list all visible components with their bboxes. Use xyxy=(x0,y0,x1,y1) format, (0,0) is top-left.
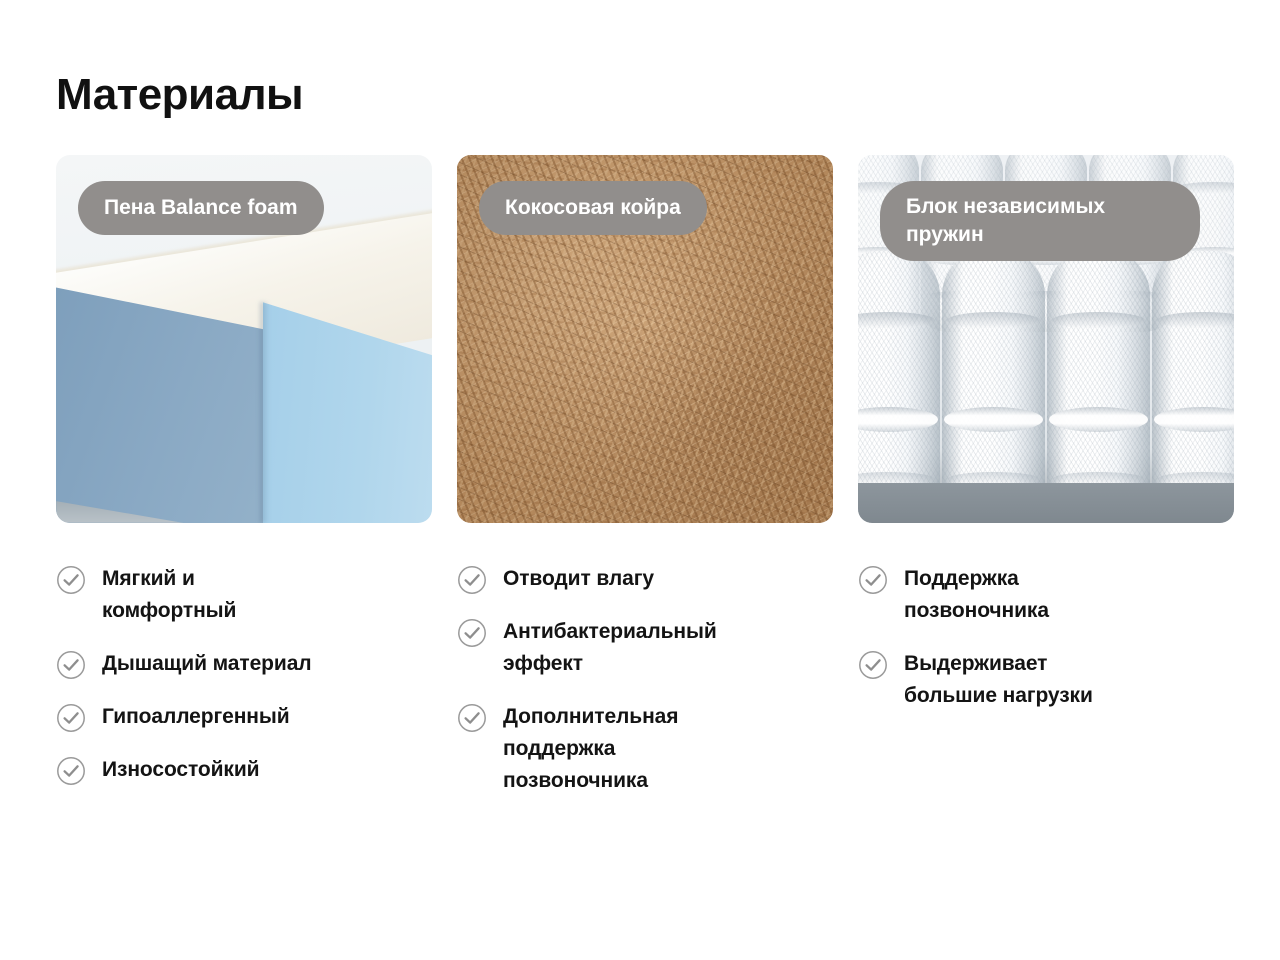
feature-item: Антибактериальный эффект xyxy=(457,615,833,680)
feature-label: Дышащий материал xyxy=(102,647,312,680)
feature-label: Дополнительная поддержка позвоночника xyxy=(503,700,678,797)
check-circle-icon xyxy=(858,650,888,680)
feature-item: Отводит влагу xyxy=(457,562,833,595)
feature-label: Мягкий и комфортный xyxy=(102,562,236,627)
check-circle-icon xyxy=(457,618,487,648)
material-card-springs[interactable]: Блок независимых пружин xyxy=(858,155,1234,523)
feature-label: Поддержка позвоночника xyxy=(904,562,1049,627)
feature-label: Износостойкий xyxy=(102,753,259,786)
feature-item: Гипоаллергенный xyxy=(56,700,432,733)
feature-label: Антибактериальный эффект xyxy=(503,615,717,680)
feature-label: Гипоаллергенный xyxy=(102,700,290,733)
feature-column-springs: Поддержка позвоночника Выдерживает больш… xyxy=(858,562,1234,817)
check-circle-icon xyxy=(56,565,86,595)
material-cards-row: Пена Balance foam Кокосовая койра xyxy=(56,155,1234,523)
check-circle-icon xyxy=(457,565,487,595)
page-title: Материалы xyxy=(56,72,303,118)
check-circle-icon xyxy=(457,703,487,733)
card-badge-springs: Блок независимых пружин xyxy=(880,181,1200,261)
check-circle-icon xyxy=(56,703,86,733)
feature-item: Дополнительная поддержка позвоночника xyxy=(457,700,833,797)
check-circle-icon xyxy=(858,565,888,595)
material-card-coir[interactable]: Кокосовая койра xyxy=(457,155,833,523)
feature-column-coir: Отводит влагу Антибактериальный эффект Д… xyxy=(457,562,833,817)
features-row: Мягкий и комфортный Дышащий материал Гип… xyxy=(56,562,1234,817)
material-card-foam[interactable]: Пена Balance foam xyxy=(56,155,432,523)
feature-item: Износостойкий xyxy=(56,753,432,786)
feature-item: Поддержка позвоночника xyxy=(858,562,1234,627)
feature-item: Выдерживает большие нагрузки xyxy=(858,647,1234,712)
card-badge-coir: Кокосовая койра xyxy=(479,181,707,235)
check-circle-icon xyxy=(56,756,86,786)
materials-slide: Материалы Пена Balance foam Кокосовая ко… xyxy=(0,0,1280,960)
feature-item: Дышащий материал xyxy=(56,647,432,680)
check-circle-icon xyxy=(56,650,86,680)
feature-column-foam: Мягкий и комфортный Дышащий материал Гип… xyxy=(56,562,432,817)
feature-label: Выдерживает большие нагрузки xyxy=(904,647,1093,712)
feature-item: Мягкий и комфортный xyxy=(56,562,432,627)
card-badge-foam: Пена Balance foam xyxy=(78,181,324,235)
feature-label: Отводит влагу xyxy=(503,562,654,595)
